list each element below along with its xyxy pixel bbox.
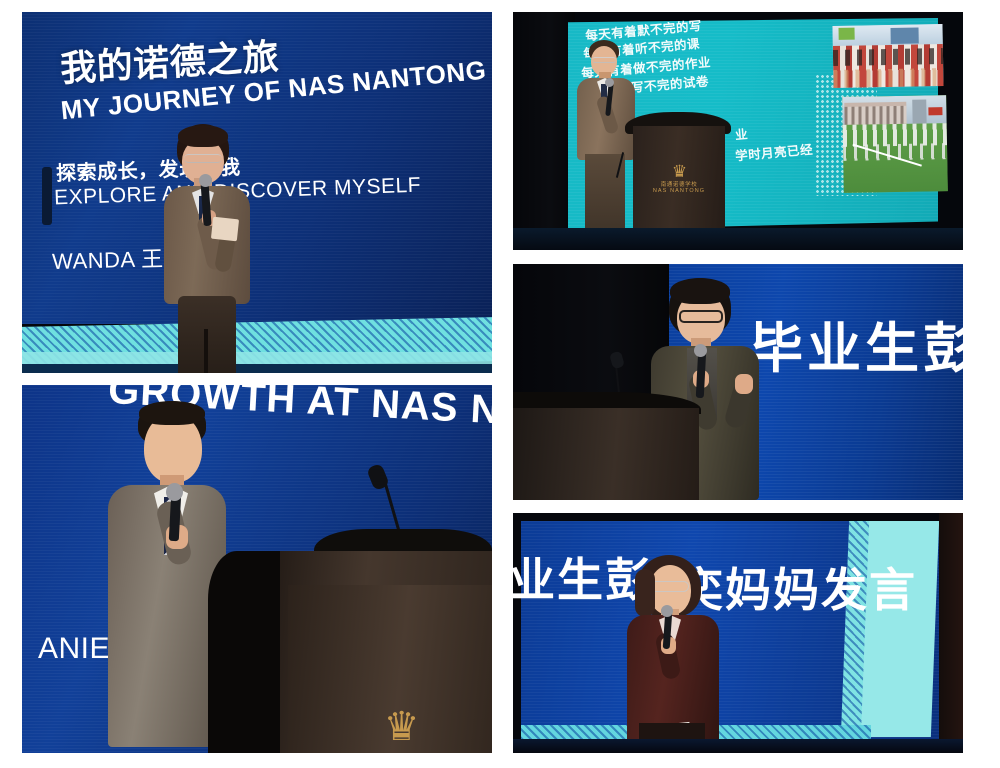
slide-embedded-sportsfield-photo: [842, 95, 948, 193]
microphone-head: [605, 78, 614, 87]
stage-right-edge: [939, 513, 963, 753]
crown-icon: ♛: [643, 162, 715, 182]
photo-student-speech-wanda: 我的诺德之旅 MY JOURNEY OF NAS NANTONG 探索成长，发现…: [22, 12, 492, 373]
speaker-figure: [623, 555, 733, 753]
photo-parent-speech-peng-mother: 业生彭 奕妈妈发言: [513, 513, 963, 753]
speaker-hair-side: [635, 569, 655, 617]
speaker-glasses: [184, 154, 222, 163]
microphone-head: [166, 483, 183, 501]
stage-side-object: [42, 167, 52, 225]
slide-speaker-name: ANIE: [38, 632, 110, 666]
speaker-hand-left: [735, 374, 753, 394]
speaker-glasses: [679, 310, 723, 323]
photo-collage: 我的诺德之旅 MY JOURNEY OF NAS NANTONG 探索成长，发现…: [0, 0, 1000, 768]
stage-floor: [513, 739, 963, 753]
speaker-glasses: [592, 57, 616, 63]
photo-student-speech-podium-teal-slide: 每天有着默不完的写 每天有着听不完的课 每天有着做不完的作业 每天有着写不完的试…: [513, 12, 963, 250]
stage-curtain-left: [513, 12, 575, 250]
stage-floor: [513, 228, 963, 250]
podium-logo: ♛ 南通诺德学校 NAS NANTONG: [643, 162, 715, 194]
speaker-leg-gap: [204, 329, 208, 373]
microphone-head: [661, 605, 673, 617]
crown-icon: ♛: [358, 707, 444, 747]
photo-graduate-speech-peng: 毕业生彭: [513, 264, 963, 500]
speaker-fringe: [670, 278, 730, 304]
podium-logo: ♛: [358, 707, 444, 747]
podium: [513, 408, 699, 500]
podium-side-shadow: [208, 551, 280, 753]
speaker-fringe: [139, 401, 205, 425]
speaker-fringe: [178, 125, 228, 147]
speech-card: [211, 217, 239, 242]
speaker-figure: [150, 124, 268, 373]
podium-logo-en: NAS NANTONG: [643, 188, 715, 194]
slide-heading-cn: 毕业生彭: [749, 322, 963, 376]
slide-line-5: 业: [734, 123, 749, 143]
microphone-head: [199, 174, 212, 187]
slide-embedded-classroom-photo: [832, 24, 943, 88]
photo-student-speech-daniel-podium: GROWTH AT NAS NA ANIE: [22, 385, 492, 753]
screen-teal-band: [861, 521, 939, 737]
speaker-glasses: [649, 581, 689, 592]
microphone-head: [694, 344, 707, 357]
